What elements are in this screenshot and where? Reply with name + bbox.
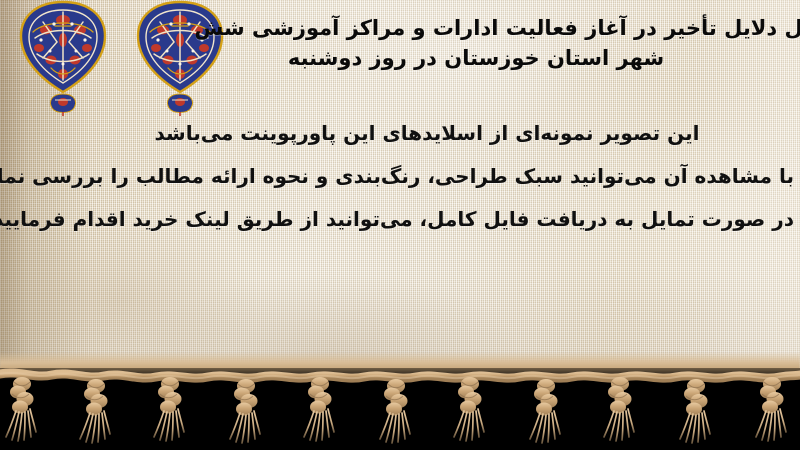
tassel [530,379,560,443]
tassel [80,379,110,443]
body-line-1: این تصویر نمونه‌ای از اسلایدهای این پاور… [60,112,794,155]
tassel [454,377,484,441]
slide-title: لیل دلایل تأخیر در آغاز فعالیت ادارات و … [160,14,792,74]
body-line-2: با مشاهده آن می‌توانید سبک طراحی، رنگ‌بن… [60,155,794,198]
slide-canvas: لیل دلایل تأخیر در آغاز فعالیت ادارات و … [0,0,800,450]
fringe-edge-glow [0,368,800,380]
tassel [230,379,260,443]
tassel [154,377,184,441]
tassel [680,379,710,443]
tassel [756,377,786,441]
tassel [304,377,334,441]
tassel [6,377,36,441]
tassel [380,379,410,443]
title-line-1: لیل دلایل تأخیر در آغاز فعالیت ادارات و … [160,14,800,44]
body-line-3: در صورت تمایل به دریافت فایل کامل، می‌تو… [60,198,794,241]
tassel [604,377,634,441]
slide-body: این تصویر نمونه‌ای از اسلایدهای این پاور… [60,112,794,242]
carpet-fringe-band [0,368,800,450]
title-line-2: شهر استان خوزستان در روز دوشنبه [160,44,792,74]
fringe-svg [0,368,800,450]
